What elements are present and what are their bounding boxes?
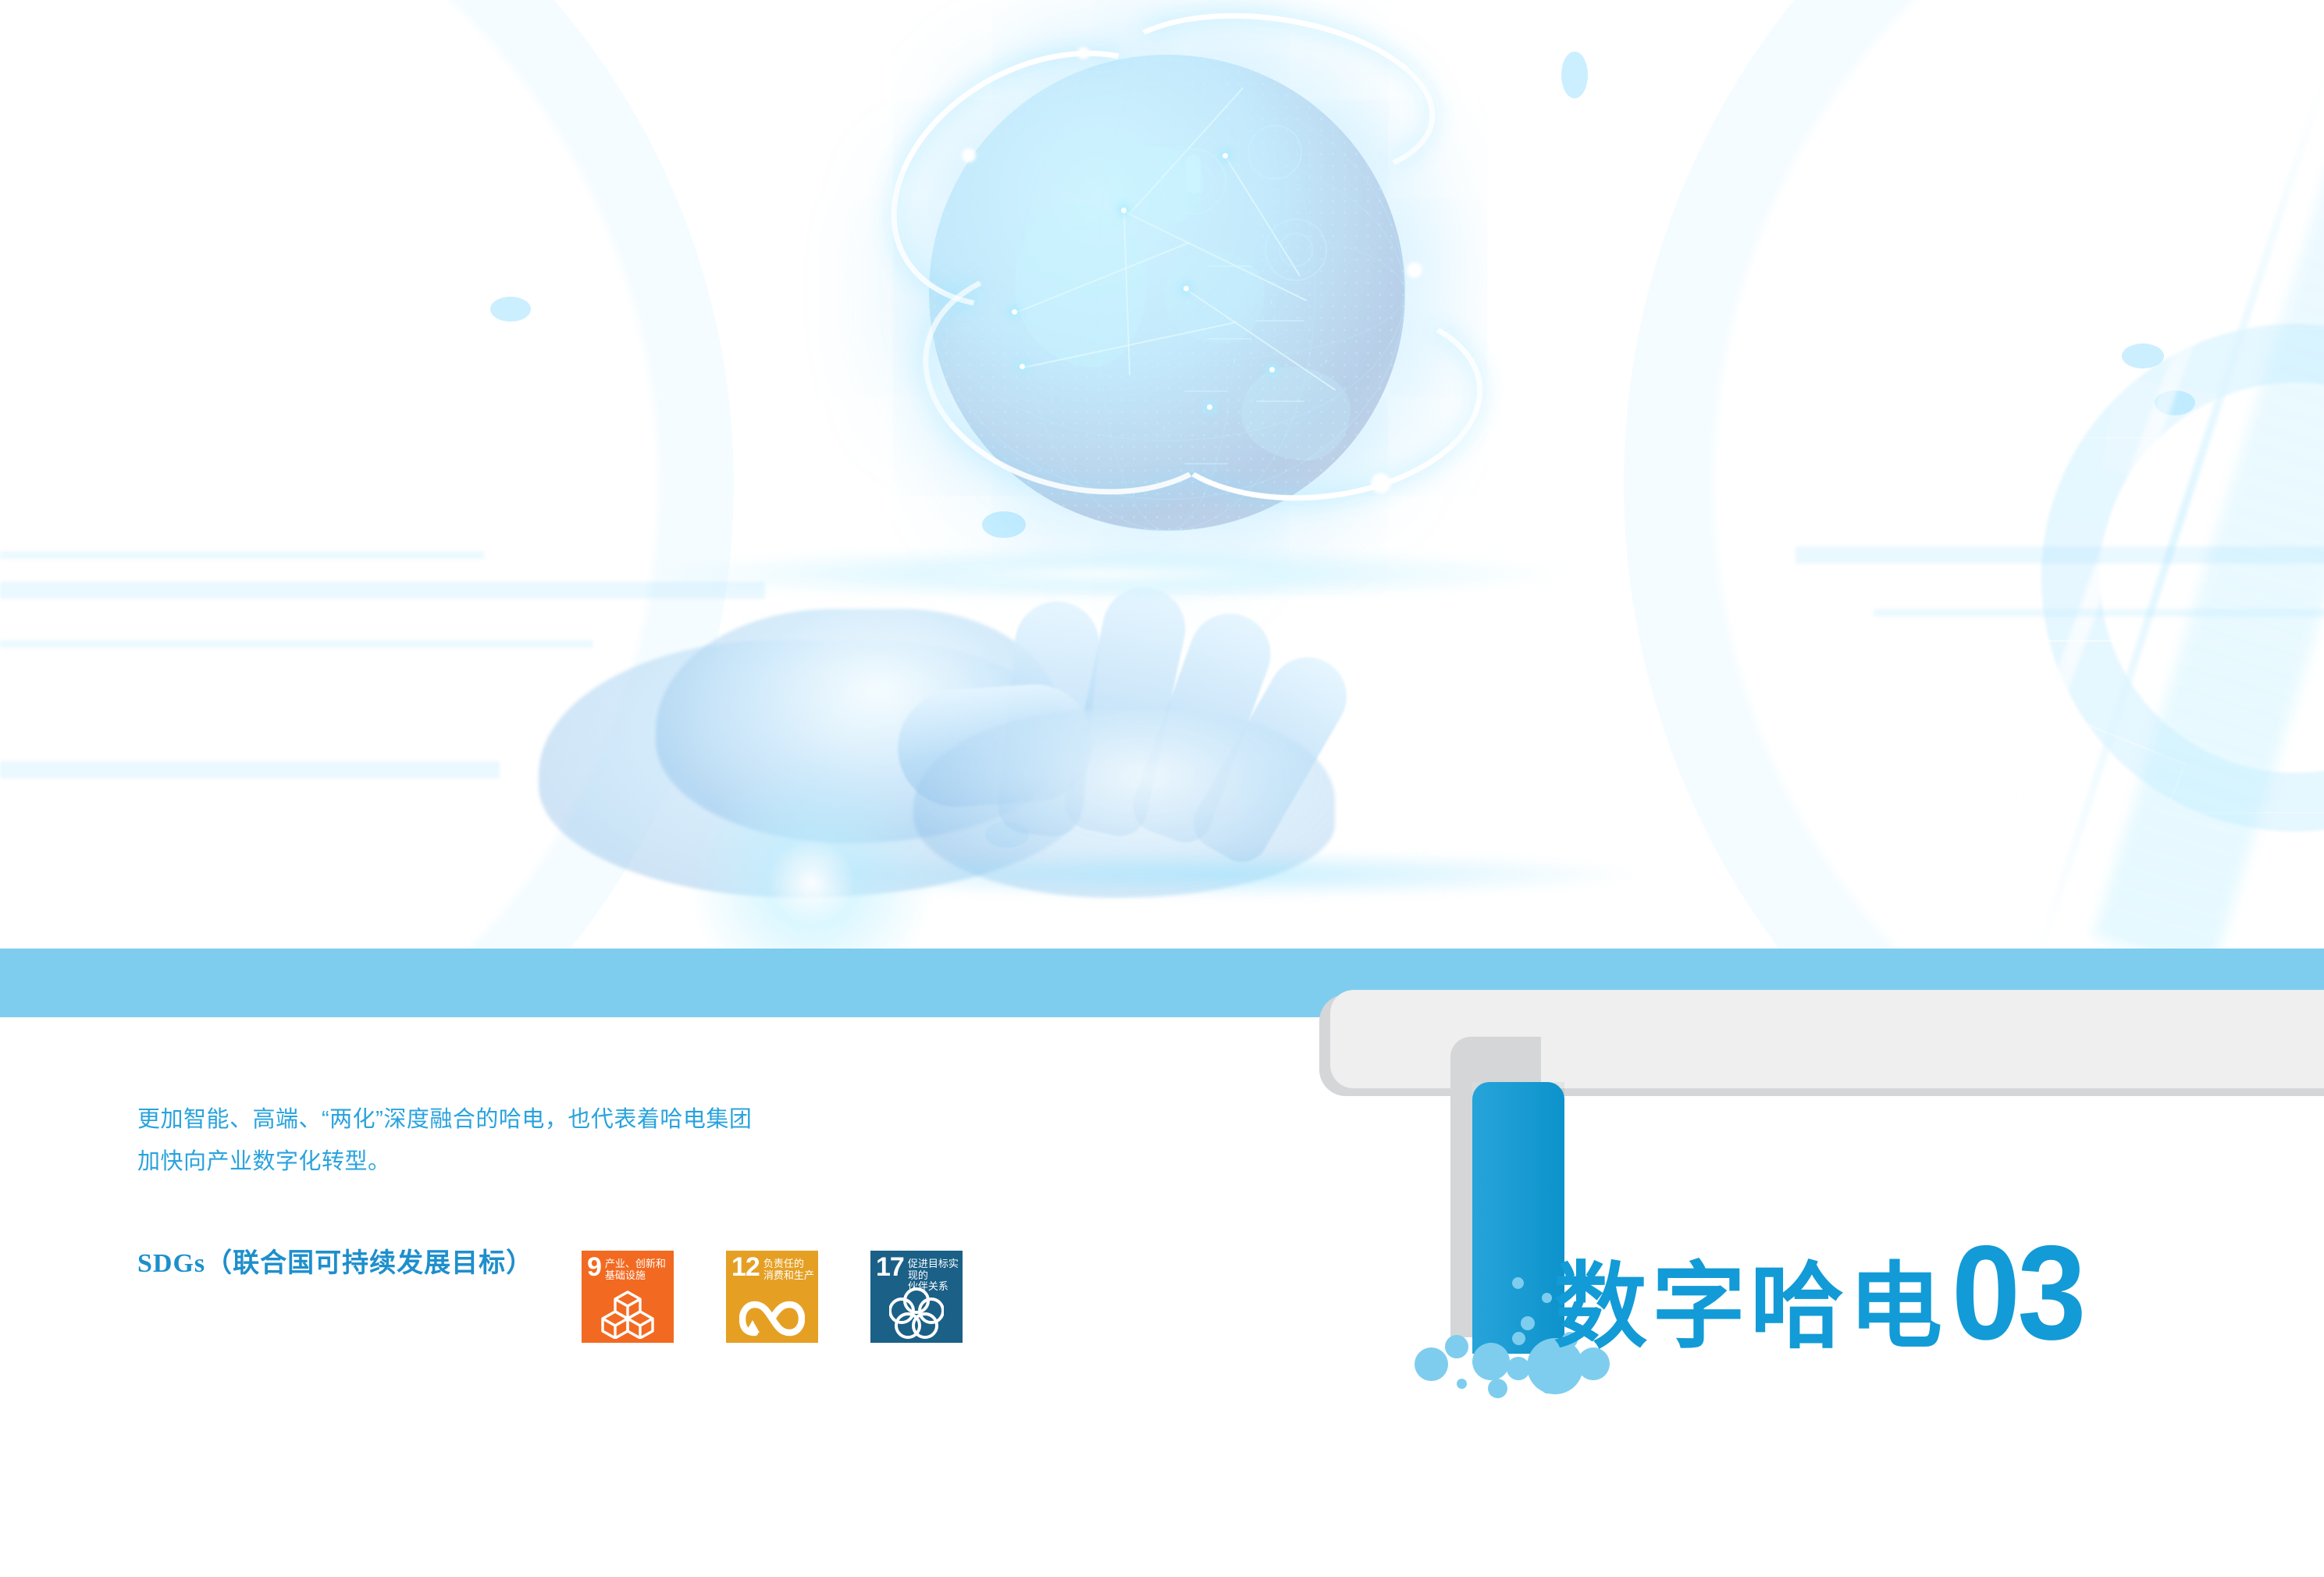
intro-line-2: 加快向产业数字化转型。 [137, 1141, 996, 1184]
sdg-tile-17-number: 17 [876, 1256, 904, 1279]
digital-globe-graphic [890, 31, 1452, 578]
five-circles-icon [870, 1287, 963, 1339]
section-number: 03 [1952, 1226, 2084, 1360]
sdg-tile-9[interactable]: 9 产业、创新和 基础设施 [582, 1251, 674, 1343]
infinity-arrow-icon [726, 1298, 818, 1339]
section-title-cn: 数字哈电 [1553, 1260, 1947, 1354]
horizontal-light-flare [640, 546, 1577, 601]
sdg-tile-12-header: 12 负责任的 消费和生产 [731, 1256, 814, 1281]
waterfall-bubbles-graphic [1319, 990, 2324, 1427]
cubes-icon [582, 1290, 674, 1339]
sdg-tile-9-header: 9 产业、创新和 基础设施 [587, 1256, 670, 1281]
sdg-label: SDGs（联合国可持续发展目标） [137, 1241, 533, 1280]
ornament-blue-bar [1472, 1082, 1564, 1354]
sdg-tile-17[interactable]: 17 促进目标实现的 伙伴关系 [870, 1251, 963, 1343]
sdg-tile-12[interactable]: 12 负责任的 消费和生产 [726, 1251, 818, 1343]
hand-reflection [781, 851, 1639, 898]
sdg-tile-list: 9 产业、创新和 基础设施 12 负责任的 消费和生产 [582, 1251, 963, 1343]
sdg-tile-12-title: 负责任的 消费和生产 [763, 1256, 814, 1281]
intro-paragraph: 更加智能、高端、“两化”深度融合的哈电，也代表着哈电集团 加快向产业数字化转型。 [137, 1099, 996, 1183]
hand-center-glow [671, 742, 952, 949]
hero-banner-image [0, 0, 2324, 949]
sdg-tile-9-number: 9 [587, 1256, 601, 1279]
sdg-tile-9-title: 产业、创新和 基础设施 [605, 1256, 666, 1281]
intro-line-1: 更加智能、高端、“两化”深度融合的哈电，也代表着哈电集团 [137, 1099, 996, 1141]
section-title-block: 数字哈电 03 [1553, 1226, 2094, 1360]
sdg-section: SDGs（联合国可持续发展目标） [137, 1241, 533, 1280]
sdg-tile-12-number: 12 [731, 1256, 760, 1279]
